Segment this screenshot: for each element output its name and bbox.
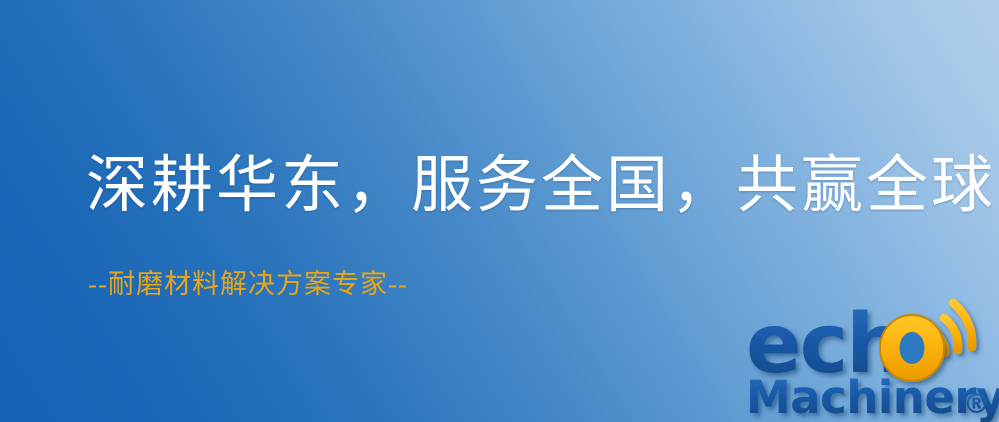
hero-banner: 深耕华东，服务全国，共赢全球 --耐磨材料解决方案专家-- [0,0,999,422]
svg-text:®: ® [963,389,990,420]
echo-machinery-logo[interactable]: ech Machinery ® [744,296,999,422]
banner-headline: 深耕华东，服务全国，共赢全球 [86,152,996,221]
banner-subtitle: --耐磨材料解决方案专家-- [88,268,408,300]
svg-text:Machinery: Machinery [746,371,999,422]
logo-wordmark-machinery: Machinery ® [746,371,999,422]
